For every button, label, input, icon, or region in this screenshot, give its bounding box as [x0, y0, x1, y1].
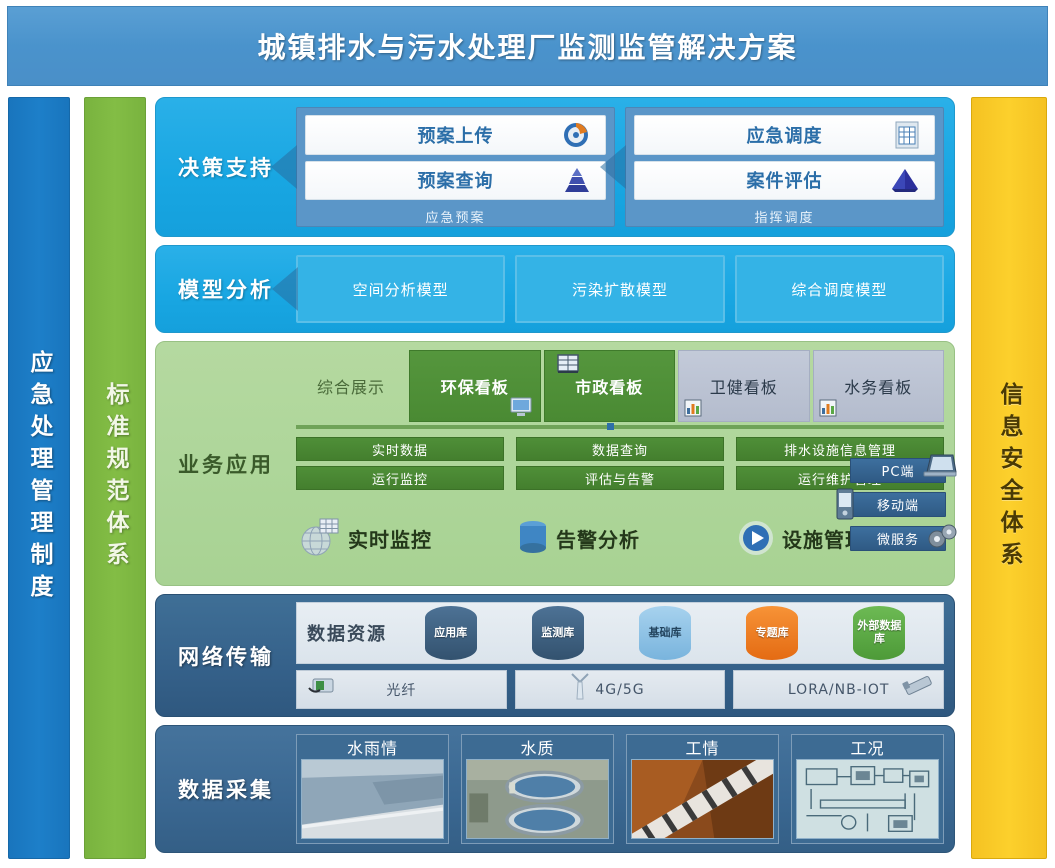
chart-doc-icon: [819, 399, 837, 417]
device-endpoints: PC端 移动端: [850, 458, 946, 551]
device-label: 微服务: [877, 529, 919, 548]
dashboard-tab-label: 综合展示: [317, 374, 385, 398]
dashboard-tab-environment[interactable]: 环保看板: [409, 350, 540, 422]
transmission-label: 4G/5G: [595, 682, 644, 698]
collection-item-label: 水质: [462, 735, 613, 759]
section-business-application-label: 业务应用: [156, 342, 296, 585]
model-item-pollution-diffusion[interactable]: 污染扩散模型: [515, 255, 724, 323]
window-icon: [557, 354, 579, 374]
decision-item-case-assessment[interactable]: 案件评估: [634, 161, 935, 201]
model-item-label: 综合调度模型: [791, 279, 887, 300]
pillar-information-security: 信息安全体系: [971, 97, 1047, 859]
transmission-label: 光纤: [386, 680, 416, 700]
collection-item-label: 工况: [792, 735, 943, 759]
collection-item-label: 工情: [627, 735, 778, 759]
business-pill[interactable]: 实时数据: [296, 437, 504, 461]
pyramid-dark-icon: [890, 167, 920, 193]
database-monitoring[interactable]: 监测库: [532, 606, 584, 660]
business-feature-alarm-analysis[interactable]: 告警分析: [516, 495, 724, 577]
dashboard-tab-label: 水务看板: [844, 374, 912, 398]
grid-table-icon: [894, 121, 920, 149]
globe-network-icon: [296, 515, 342, 561]
section-business-application: 业务应用 综合展示 环保看板: [155, 341, 955, 586]
page-title-bar: 城镇排水与污水处理厂监测监管解决方案: [7, 6, 1048, 86]
dashboard-tabs: 综合展示 环保看板 市政看板: [296, 350, 944, 422]
page-title: 城镇排水与污水处理厂监测监管解决方案: [257, 26, 797, 66]
sensor-device-icon: [899, 671, 939, 699]
database-thematic[interactable]: 专题库: [746, 606, 798, 660]
dashboard-tab-water[interactable]: 水务看板: [813, 350, 944, 422]
business-pill[interactable]: 运行监控: [296, 466, 504, 490]
dashboard-tab-health[interactable]: 卫健看板: [678, 350, 809, 422]
decision-item-label: 应急调度: [747, 122, 823, 148]
database-basic[interactable]: 基础库: [639, 606, 691, 660]
database-label: 应用库: [434, 627, 467, 640]
database-label: 基础库: [648, 627, 681, 640]
tabs-underline: [296, 425, 944, 429]
upload-gauge-icon: [561, 120, 591, 150]
business-column-monitoring: 实时数据 运行监控: [296, 437, 504, 577]
decision-group-command-dispatch: 应急调度 案件评估: [625, 107, 944, 227]
collection-item-hydrology[interactable]: 水雨情: [296, 734, 449, 844]
dashboard-tab-municipal[interactable]: 市政看板: [544, 350, 675, 422]
diagram-root: 城镇排水与污水处理厂监测监管解决方案 应急处理管理制度 标准规范体系 信息安全体…: [0, 0, 1055, 868]
business-feature-label: 实时监控: [348, 524, 432, 553]
pillar-standards-system: 标准规范体系: [84, 97, 146, 859]
transmission-4g5g[interactable]: 4G/5G: [515, 670, 726, 709]
monitor-icon: [510, 397, 532, 417]
decision-item-label: 预案查询: [418, 167, 494, 193]
decision-group-emergency-plan: 预案上传 预案查询: [296, 107, 615, 227]
database-application[interactable]: 应用库: [425, 606, 477, 660]
decision-item-plan-query[interactable]: 预案查询: [305, 161, 606, 201]
database-label: 外部数据库: [853, 620, 905, 645]
transmission-fiber[interactable]: 光纤: [296, 670, 507, 709]
database-label: 监测库: [541, 627, 574, 640]
business-pill[interactable]: 数据查询: [516, 437, 724, 461]
collection-item-works-status[interactable]: 工情: [626, 734, 779, 844]
arrow-left-icon: [600, 145, 626, 189]
database-external[interactable]: 外部数据库: [853, 606, 905, 660]
device-label: 移动端: [877, 495, 919, 514]
decision-item-label: 预案上传: [418, 122, 494, 148]
sedimentation-tanks-photo: [466, 759, 609, 839]
center-stack: 决策支持 预案上传: [155, 97, 955, 859]
play-circle-icon: [736, 518, 776, 558]
dashboard-tab-label: 市政看板: [575, 374, 643, 398]
data-resources-row: 数据资源 应用库 监测库 基础库: [296, 602, 944, 664]
database-label: 专题库: [756, 627, 789, 640]
device-microservice[interactable]: 微服务: [850, 526, 946, 551]
decision-item-emergency-dispatch[interactable]: 应急调度: [634, 115, 935, 155]
model-item-spatial[interactable]: 空间分析模型: [296, 255, 505, 323]
mobile-phone-icon: [835, 488, 855, 520]
decision-group-caption: 指挥调度: [634, 206, 935, 226]
device-mobile[interactable]: 移动端: [850, 492, 946, 517]
collection-item-label: 水雨情: [297, 735, 448, 759]
business-column-alarm: 数据查询 评估与告警 告警分析: [516, 437, 724, 577]
model-item-label: 污染扩散模型: [572, 279, 668, 300]
arrow-left-icon: [271, 145, 297, 189]
decision-item-label: 案件评估: [747, 167, 823, 193]
transmission-row: 光纤 4G/5G LORA/NB-IOT: [296, 670, 944, 709]
device-pc[interactable]: PC端: [850, 458, 946, 483]
chart-doc-icon: [684, 399, 702, 417]
device-label: PC端: [882, 461, 915, 480]
dashboard-tab-overview: 综合展示: [296, 350, 406, 422]
section-data-collection: 数据采集 水雨情: [155, 725, 955, 853]
section-model-analysis: 模型分析 空间分析模型 污染扩散模型 综合调度模型: [155, 245, 955, 333]
section-network-transmission-label: 网络传输: [156, 595, 296, 716]
dashboard-tab-label: 卫健看板: [710, 374, 778, 398]
collection-item-operating-condition[interactable]: 工况: [791, 734, 944, 844]
gears-icon: [925, 521, 959, 551]
river-channel-photo: [301, 759, 444, 839]
fiber-cable-icon: [307, 674, 339, 698]
transmission-lora-nbiot[interactable]: LORA/NB-IOT: [733, 670, 944, 709]
section-decision-support: 决策支持 预案上传: [155, 97, 955, 237]
dashboard-tab-label: 环保看板: [441, 374, 509, 398]
scada-schematic-photo: [796, 759, 939, 839]
arrow-left-icon: [272, 267, 298, 311]
transmission-label: LORA/NB-IOT: [788, 682, 890, 698]
pipeline-trench-photo: [631, 759, 774, 839]
collection-item-water-quality[interactable]: 水质: [461, 734, 614, 844]
business-pill[interactable]: 评估与告警: [516, 466, 724, 490]
antenna-tower-icon: [568, 671, 592, 701]
section-network-transmission: 网络传输 数据资源 应用库 监测库: [155, 594, 955, 717]
pyramid-chart-icon: [563, 167, 591, 193]
decision-group-caption: 应急预案: [305, 206, 606, 226]
business-feature-realtime-monitoring[interactable]: 实时监控: [296, 495, 504, 577]
model-item-label: 空间分析模型: [353, 279, 449, 300]
section-data-collection-label: 数据采集: [156, 726, 296, 852]
decision-item-plan-upload[interactable]: 预案上传: [305, 115, 606, 155]
data-resources-label: 数据资源: [307, 620, 387, 646]
database-cylinder-icon: [516, 518, 550, 558]
pillar-emergency-management: 应急处理管理制度: [8, 97, 70, 859]
business-feature-label: 告警分析: [556, 524, 640, 553]
laptop-icon: [923, 452, 957, 480]
model-item-integrated-dispatch[interactable]: 综合调度模型: [735, 255, 944, 323]
